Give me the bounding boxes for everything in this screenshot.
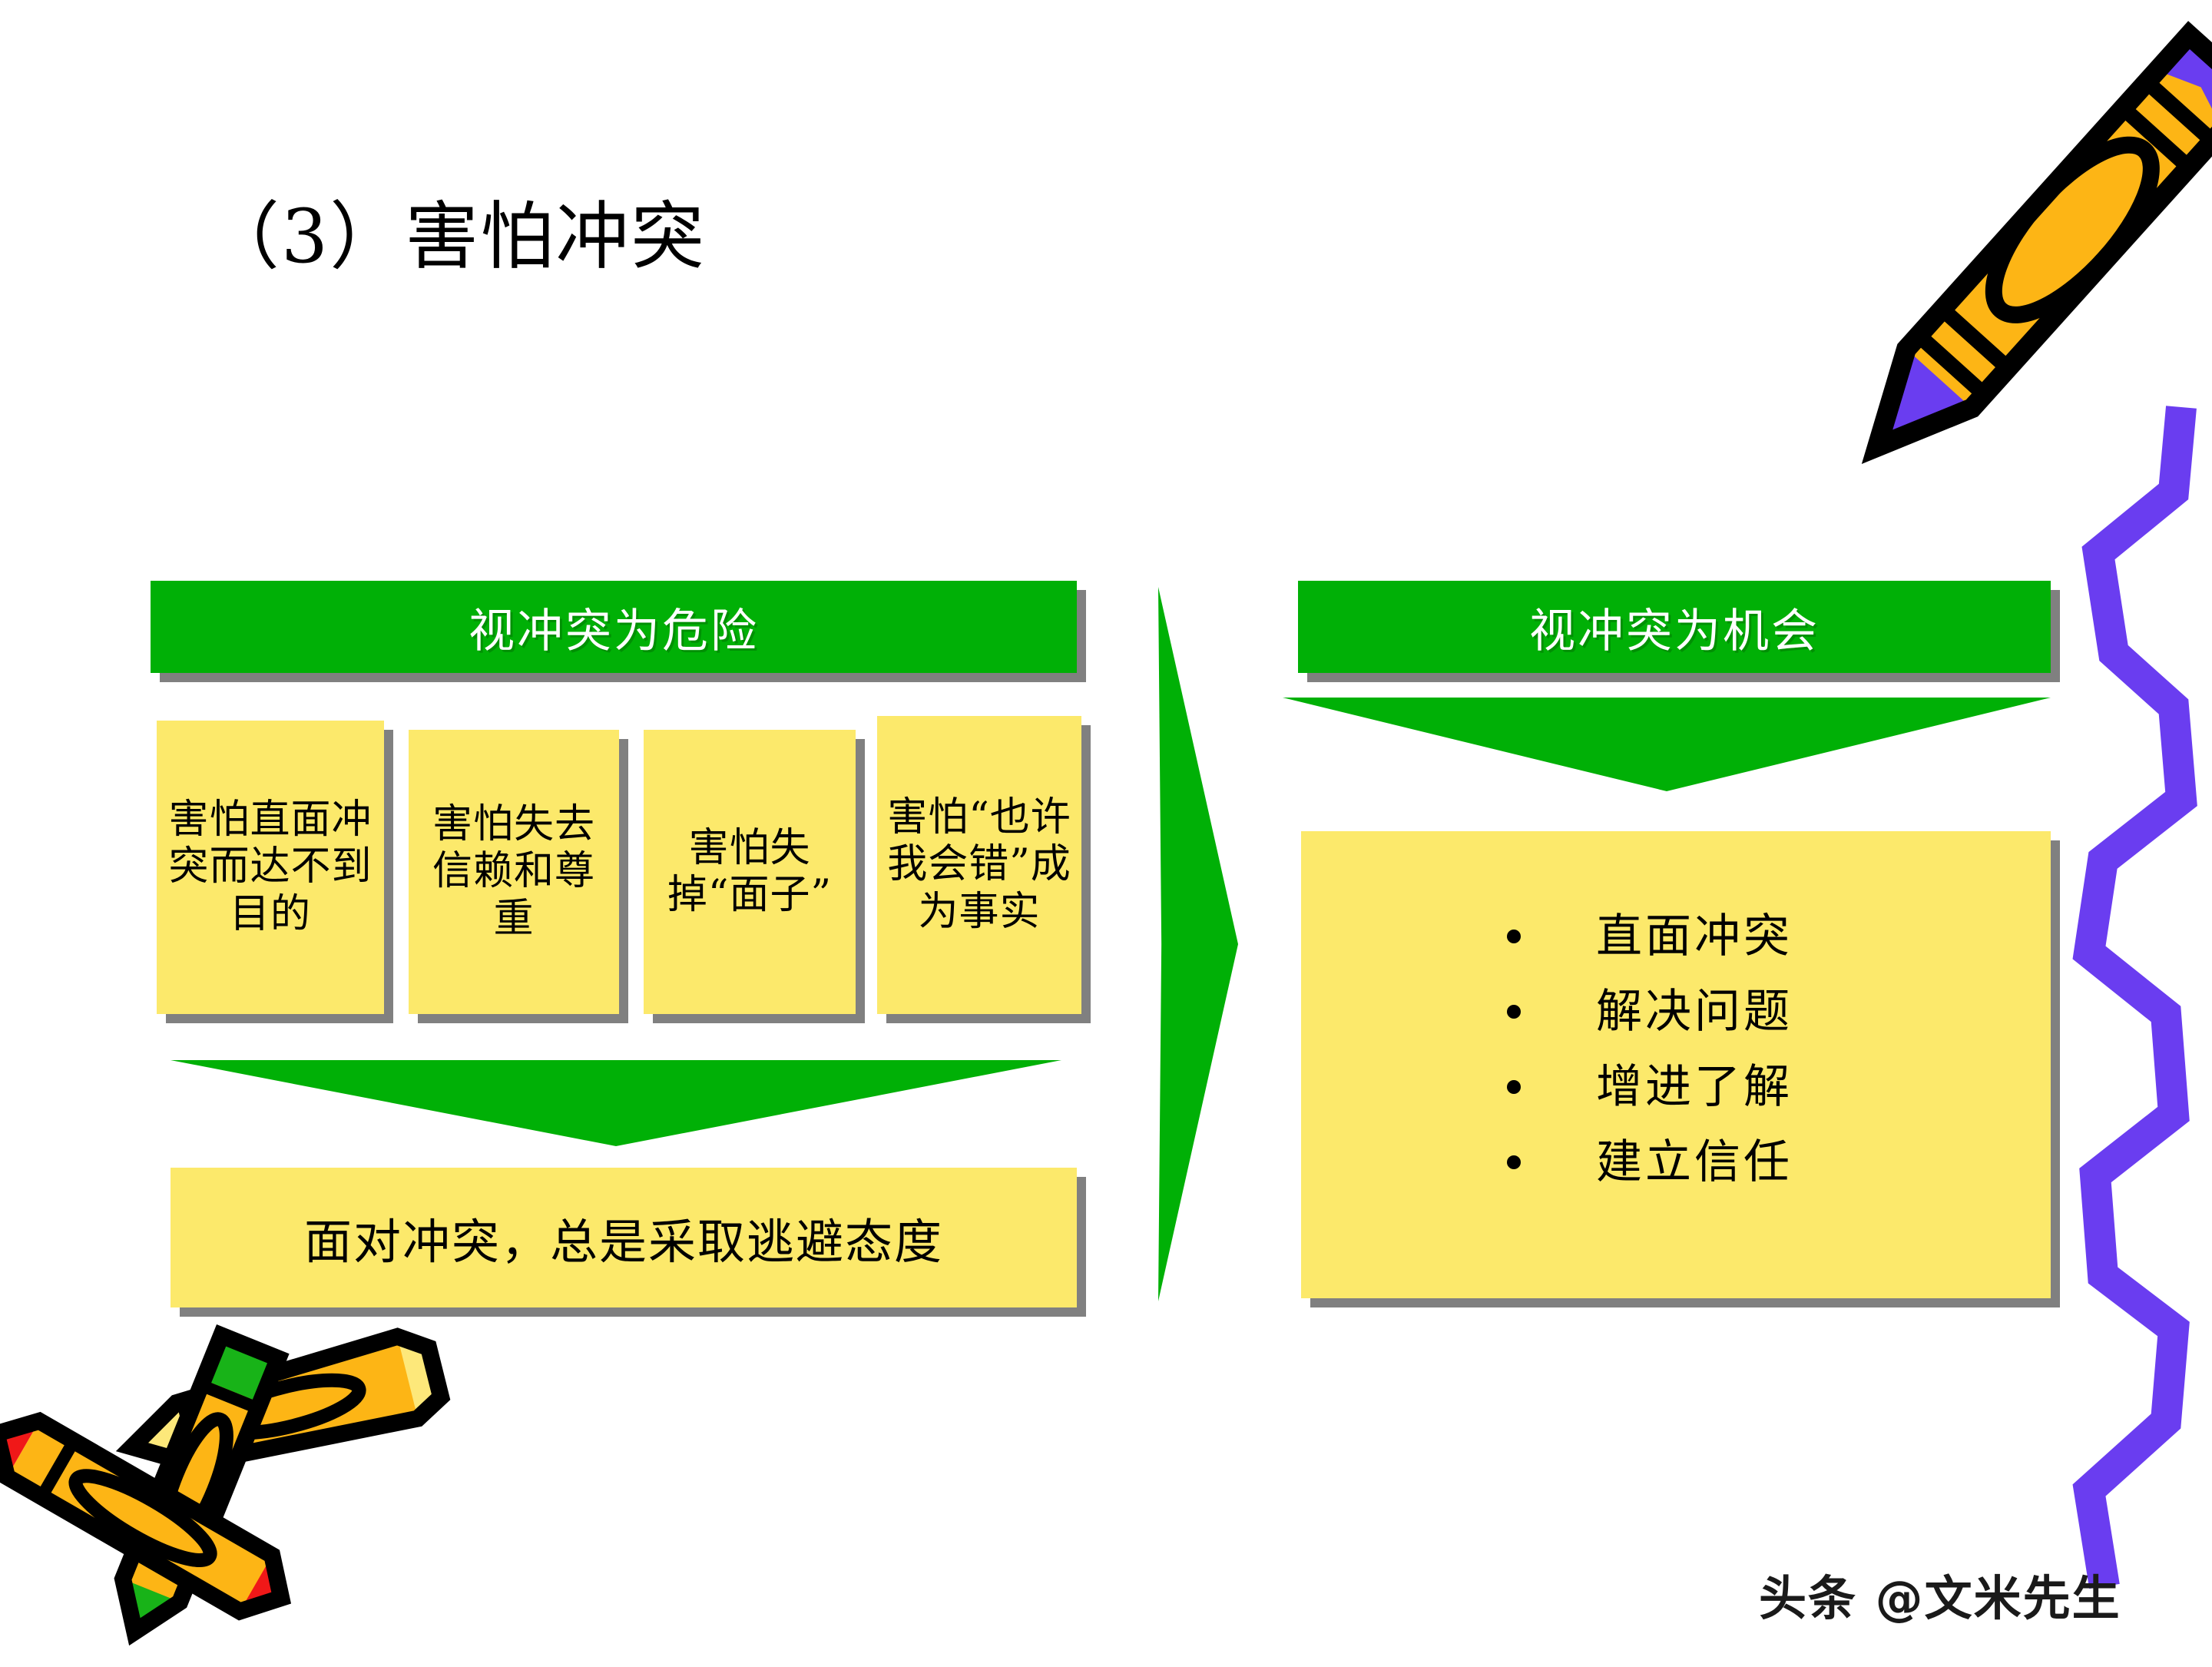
fear-box-3: 害怕失掉“面子” — [644, 730, 856, 1014]
slide-canvas: （3）害怕冲突 视冲突为危险 害怕直面冲突而达不到目的 害怕失去信赖和尊重 害怕… — [0, 0, 2212, 1659]
bullet-dot-icon — [1507, 1155, 1521, 1169]
list-item: 增进了解 — [1507, 1049, 1793, 1125]
right-panel-opportunity-box: 直面冲突 解决问题 增进了解 建立信任 — [1301, 831, 2051, 1298]
fear-box-2-label: 害怕失去信赖和尊重 — [409, 801, 619, 943]
watermark-label: 头条 @文米先生 — [1759, 1559, 2121, 1629]
list-item: 解决问题 — [1507, 974, 1793, 1049]
page-title: （3）害怕冲突 — [206, 198, 706, 276]
down-triangle-icon-right — [1283, 698, 2051, 791]
fear-box-2: 害怕失去信赖和尊重 — [409, 730, 619, 1014]
squiggle-line-icon — [2058, 399, 2212, 1598]
opportunity-bullet-2-label: 解决问题 — [1596, 989, 1793, 1035]
fear-box-1-label: 害怕直面冲突而达不到目的 — [157, 797, 384, 938]
opportunity-bullet-3-label: 增进了解 — [1596, 1064, 1793, 1110]
crayon-icon — [1843, 0, 2212, 553]
down-triangle-icon-left — [171, 1060, 1061, 1146]
opportunity-bullet-4-label: 建立信任 — [1596, 1139, 1793, 1185]
left-panel-summary-label: 面对冲突，总是采取逃避态度 — [304, 1203, 943, 1272]
list-item: 直面冲突 — [1507, 899, 1793, 974]
fear-box-1: 害怕直面冲突而达不到目的 — [157, 721, 384, 1014]
fear-box-4-label: 害怕“也许我会错”成为事实 — [877, 794, 1081, 936]
left-panel-header: 视冲突为危险 — [151, 581, 1077, 673]
right-panel-header: 视冲突为机会 — [1298, 581, 2051, 673]
fear-box-4: 害怕“也许我会错”成为事实 — [877, 716, 1081, 1014]
crayons-icon — [0, 1306, 476, 1667]
bullet-dot-icon — [1507, 1005, 1521, 1019]
right-panel-header-label: 视冲突为机会 — [1529, 594, 1820, 661]
list-item: 建立信任 — [1507, 1125, 1793, 1200]
right-chevron-arrow-icon — [1158, 587, 1238, 1301]
left-panel-header-label: 视冲突为危险 — [469, 594, 759, 661]
opportunity-bullet-1-label: 直面冲突 — [1596, 913, 1793, 959]
bullet-dot-icon — [1507, 930, 1521, 943]
bullet-dot-icon — [1507, 1080, 1521, 1094]
fear-box-3-label: 害怕失掉“面子” — [644, 825, 856, 920]
left-panel-summary-box: 面对冲突，总是采取逃避态度 — [171, 1168, 1077, 1307]
opportunity-bullet-list: 直面冲突 解决问题 增进了解 建立信任 — [1507, 899, 1793, 1200]
